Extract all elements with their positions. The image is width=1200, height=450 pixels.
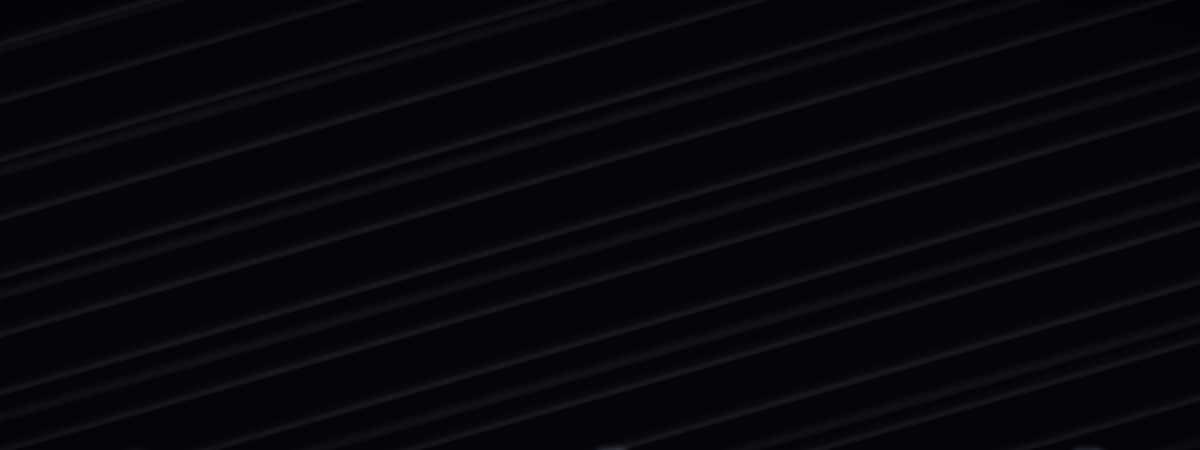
background-diagonal-stripes-secondary: [0, 0, 1200, 450]
background-diagonal-stripes: [0, 0, 1200, 450]
infographic-stage: 可视化构建 表单列表树标签图表布局页大屏模版Excel导入工作流体系: [0, 0, 1200, 450]
two-people-discussion-desk-icon: [1043, 446, 1113, 450]
background-vignette: [0, 0, 1200, 450]
two-people-discussion-desk-icon: [567, 446, 637, 450]
